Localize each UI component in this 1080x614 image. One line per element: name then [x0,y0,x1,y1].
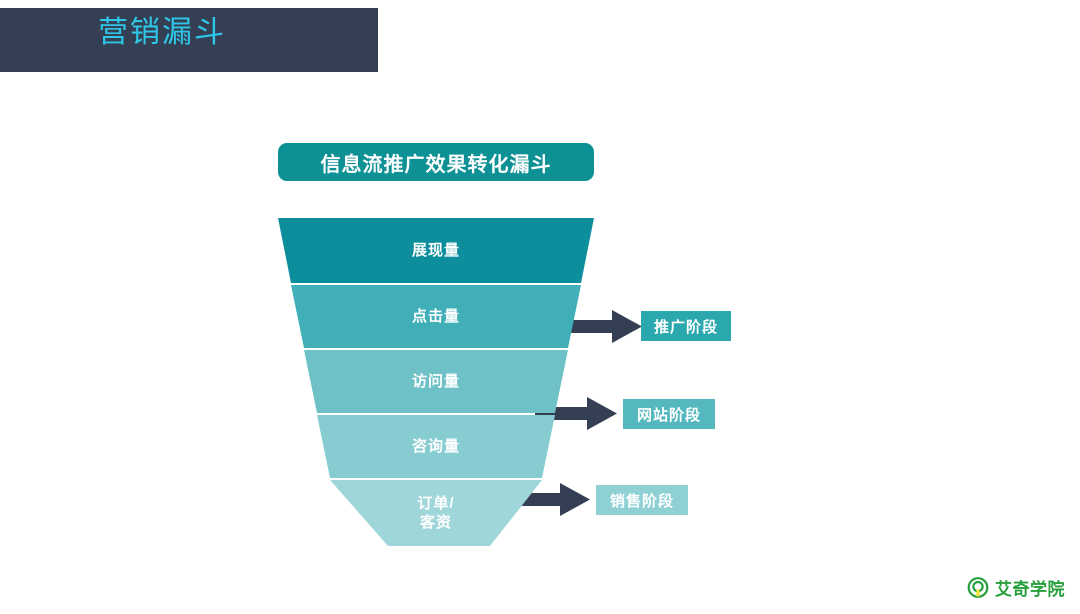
page-title: 营销漏斗 [98,16,226,50]
funnel-title-text: 信息流推广效果转化漏斗 [321,148,552,177]
circle-target-icon [966,576,990,600]
stage-label-1-text: 推广阶段 [654,316,718,337]
stage-label-3-text: 销售阶段 [610,490,674,511]
funnel-segment-1[interactable]: 展现量 [278,218,594,283]
funnel-segment-2-label: 点击量 [412,307,460,326]
funnel-title-box: 信息流推广效果转化漏斗 [278,143,594,181]
funnel-segment-5[interactable]: 订单/ 客资 [278,480,594,546]
funnel-segment-4-label: 咨询量 [412,437,460,456]
brand-logo[interactable]: 艾奇学院 [966,575,1065,600]
funnel-diagram: 展现量 点击量 访问量 咨询量 订单/ 客资 [278,218,594,546]
stage-label-2-text: 网站阶段 [637,404,701,425]
brand-logo-text: 艾奇学院 [995,575,1065,600]
funnel-segment-3[interactable]: 访问量 [278,350,594,413]
stage-label-3[interactable]: 销售阶段 [596,485,688,515]
stage-label-2[interactable]: 网站阶段 [623,399,715,429]
funnel-segment-5-label: 订单/ 客资 [417,494,454,532]
funnel-segment-2[interactable]: 点击量 [278,285,594,348]
stage-label-1[interactable]: 推广阶段 [641,311,731,341]
funnel-segment-4[interactable]: 咨询量 [278,415,594,478]
funnel-segment-3-label: 访问量 [412,372,460,391]
funnel-segment-1-label: 展现量 [412,241,460,260]
